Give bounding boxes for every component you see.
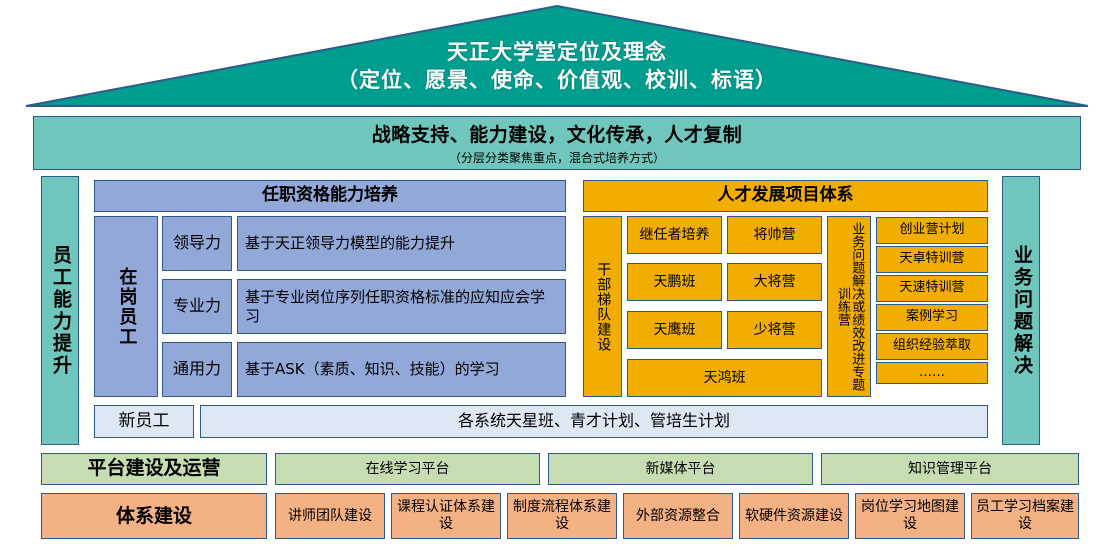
- cadre-right-label-0: 将帅营: [754, 227, 796, 243]
- cadre-right-item-2: 少将营: [727, 311, 822, 349]
- capability-desc-text-2: 基于ASK（素质、知识、技能）的学习: [245, 360, 500, 379]
- cadre-right-item-0: 将帅营: [727, 216, 822, 254]
- cadre-left-label-2: 天鹰班: [654, 322, 696, 338]
- cadre-right-item-1: 大将营: [727, 263, 822, 301]
- cadre-left-label-0: 继任者培养: [640, 227, 710, 243]
- capability-desc-0: 基于天正领导力模型的能力提升: [237, 216, 566, 271]
- capability-desc-1: 基于专业岗位序列任职资格标准的应知应会学习: [237, 279, 566, 334]
- pillar-employee-capability: 员工能力提升: [41, 176, 79, 445]
- system-item-label-6: 员工学习档案建设: [972, 499, 1078, 533]
- strategy-band: 战略支持、能力建设，文化传承，人才复制 （分层分类聚焦重点，混合式培养方式）: [33, 116, 1081, 170]
- capability-label-1: 专业力: [173, 297, 221, 315]
- system-item-label-1: 课程认证体系建设: [392, 499, 500, 533]
- cadre-left-label-1: 天鹏班: [654, 274, 696, 290]
- business-item-label-1: 天卓特训营: [899, 252, 964, 267]
- cadre-right-label-1: 大将营: [754, 274, 796, 290]
- platform-item-1: 新媒体平台: [548, 453, 813, 485]
- onjob-employee-label: 在岗员工: [94, 216, 158, 397]
- pillar-left-label: 员工能力提升: [50, 245, 70, 377]
- cadre-left-item-1: 天鹏班: [627, 263, 722, 301]
- system-item-label-2: 制度流程体系建设: [508, 499, 616, 533]
- qualification-header: 任职资格能力培养: [94, 180, 566, 212]
- qualification-header-label: 任职资格能力培养: [262, 186, 398, 206]
- talent-header: 人才发展项目体系: [583, 180, 988, 212]
- business-item-label-4: 组织经验萃取: [893, 339, 971, 354]
- strategy-sub-text: （分层分类聚焦重点，混合式培养方式）: [449, 149, 665, 166]
- system-item-0: 讲师团队建设: [275, 493, 385, 539]
- system-item-3: 外部资源整合: [623, 493, 733, 539]
- business-item-3: 案例学习: [876, 304, 988, 331]
- new-employee-label: 新员工: [94, 405, 194, 438]
- business-item-label-5: ……: [919, 366, 945, 381]
- cadre-left-item-2: 天鹰班: [627, 311, 722, 349]
- platform-item-0: 在线学习平台: [275, 453, 540, 485]
- business-item-4: 组织经验萃取: [876, 333, 988, 360]
- capability-desc-text-1: 基于专业岗位序列任职资格标准的应知应会学习: [245, 288, 558, 326]
- business-training-label: 业务问题解决或绩效改进专题训练营: [827, 216, 871, 397]
- business-item-label-0: 创业营计划: [899, 223, 964, 238]
- system-item-label-3: 外部资源整合: [636, 508, 720, 525]
- cadre-right-label-2: 少将营: [754, 322, 796, 338]
- business-item-label-2: 天速特训营: [899, 281, 964, 296]
- system-item-6: 员工学习档案建设: [971, 493, 1079, 539]
- system-item-4: 软硬件资源建设: [739, 493, 849, 539]
- system-item-2: 制度流程体系建设: [507, 493, 617, 539]
- business-item-2: 天速特训营: [876, 275, 988, 302]
- new-employee-label-text: 新员工: [119, 412, 170, 432]
- onjob-employee-text: 在岗员工: [116, 267, 137, 347]
- cadre-wide-label: 天鸿班: [704, 370, 746, 386]
- platform-item-2: 知识管理平台: [821, 453, 1079, 485]
- business-item-5: ……: [876, 362, 988, 384]
- cadre-building-text: 干部梯队建设: [595, 262, 610, 352]
- platform-item-label-0: 在线学习平台: [366, 461, 450, 477]
- talent-header-label: 人才发展项目体系: [718, 186, 854, 206]
- platform-title-label: 平台建设及运营: [87, 458, 220, 480]
- roof-banner: 天正大学堂定位及理念 （定位、愿景、使命、价值观、校训、标语）: [22, 2, 1092, 110]
- capability-label-2: 通用力: [173, 360, 221, 378]
- cadre-left-item-0: 继任者培养: [627, 216, 722, 254]
- business-training-text: 业务问题解决或绩效改进专题训练营: [835, 217, 864, 396]
- capability-desc-2: 基于ASK（素质、知识、技能）的学习: [237, 342, 566, 397]
- platform-item-label-1: 新媒体平台: [646, 461, 716, 477]
- system-title: 体系建设: [41, 493, 267, 539]
- platform-item-label-2: 知识管理平台: [908, 461, 992, 477]
- system-item-label-4: 软硬件资源建设: [745, 508, 843, 525]
- pillar-business-problem: 业务问题解决: [1002, 176, 1040, 445]
- capability-label-0: 领导力: [173, 234, 221, 252]
- new-employee-description-text: 各系统天星班、青才计划、管培生计划: [458, 412, 730, 430]
- cadre-building-label: 干部梯队建设: [583, 216, 622, 397]
- system-item-5: 岗位学习地图建设: [855, 493, 965, 539]
- cadre-wide-item: 天鸿班: [627, 359, 822, 397]
- business-item-0: 创业营计划: [876, 217, 988, 244]
- system-item-1: 课程认证体系建设: [391, 493, 501, 539]
- strategy-main-text: 战略支持、能力建设，文化传承，人才复制: [372, 120, 743, 147]
- system-item-label-5: 岗位学习地图建设: [856, 499, 964, 533]
- capability-cell-2: 通用力: [162, 342, 232, 397]
- capability-cell-0: 领导力: [162, 216, 232, 271]
- business-item-label-3: 案例学习: [906, 310, 958, 325]
- business-item-1: 天卓特训营: [876, 246, 988, 273]
- system-title-label: 体系建设: [116, 505, 192, 528]
- pillar-right-label: 业务问题解决: [1011, 245, 1031, 377]
- capability-cell-1: 专业力: [162, 279, 232, 334]
- platform-title: 平台建设及运营: [41, 453, 267, 485]
- capability-desc-text-0: 基于天正领导力模型的能力提升: [245, 234, 455, 253]
- new-employee-description: 各系统天星班、青才计划、管培生计划: [200, 405, 988, 438]
- roof-triangle-shape: [22, 2, 1092, 110]
- system-item-label-0: 讲师团队建设: [288, 508, 372, 525]
